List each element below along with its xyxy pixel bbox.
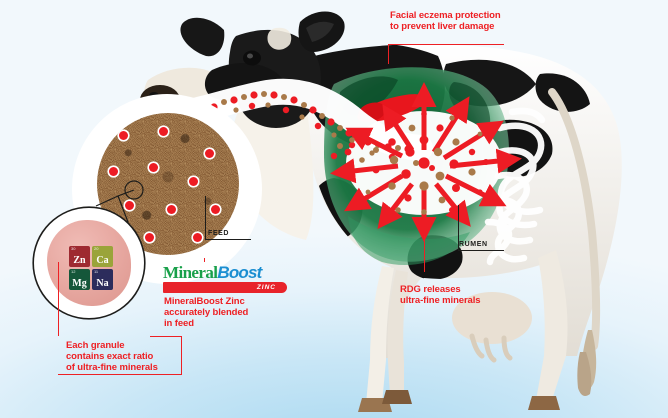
element-box-magnesium: 12 Mg: [69, 269, 90, 290]
liver-callout-dropline: [388, 44, 389, 64]
label-feed: FEED: [208, 230, 229, 237]
logo-word-boost: Boost: [217, 263, 261, 282]
callout-granule: Each granule contains exact ratio of ult…: [66, 340, 188, 374]
element-symbol-zinc: Zn: [73, 255, 85, 267]
element-box-zinc: 30 Zn: [69, 246, 90, 267]
logo-red-bar: ZINC: [163, 282, 281, 293]
element-number-zinc: 30: [71, 247, 75, 251]
element-symbol-sodium: Na: [96, 278, 108, 290]
callout-rumen: RDG releases ultra-fine minerals: [400, 284, 530, 306]
element-box-sodium: 11 Na: [92, 269, 113, 290]
callout-feed-line-2: accurately blended: [164, 307, 294, 318]
callout-liver-line-1: Facial eczema protection: [390, 10, 540, 21]
callout-liver: Facial eczema protection to prevent live…: [390, 10, 540, 32]
granule-callout-leader-top: [150, 336, 182, 337]
callout-feed-line-1: MineralBoost Zinc: [164, 296, 294, 307]
logo-wordmark: MineralBoost: [163, 264, 281, 281]
mineralboost-logo[interactable]: MineralBoost ZINC: [163, 264, 281, 293]
callout-liver-line-2: to prevent liver damage: [390, 21, 540, 32]
callout-granule-line-3: of ultra-fine minerals: [66, 362, 188, 373]
granule-callout-leader-bottom: [58, 374, 182, 375]
feed-label-leader-horizontal: [205, 239, 251, 240]
element-box-calcium: 20 Ca: [92, 246, 113, 267]
logo-word-mineral: Mineral: [163, 263, 217, 282]
logo-bar-cap: [275, 282, 287, 293]
label-rumen: RUMEN: [459, 241, 488, 248]
element-number-sodium: 11: [94, 270, 98, 274]
element-symbol-calcium: Ca: [96, 255, 108, 267]
infographic-canvas: 30 Zn 20 Ca 12 Mg 11 Na: [0, 0, 668, 418]
granule-closeup: 30 Zn 20 Ca 12 Mg 11 Na: [34, 208, 144, 318]
callout-feed-line-3: in feed: [164, 318, 294, 329]
callout-rumen-line-1: RDG releases: [400, 284, 530, 295]
element-symbol-magnesium: Mg: [72, 278, 86, 290]
element-number-magnesium: 12: [71, 270, 75, 274]
rumen-callout-leader-vertical: [424, 236, 425, 272]
granule-callout-leader-vertical: [58, 262, 59, 336]
callout-feed: MineralBoost Zinc accurately blended in …: [164, 296, 294, 330]
callout-granule-line-1: Each granule: [66, 340, 188, 351]
element-number-calcium: 20: [94, 247, 98, 251]
callout-granule-line-2: contains exact ratio: [66, 351, 188, 362]
callout-rumen-line-2: ultra-fine minerals: [400, 295, 530, 306]
rumen-label-leader-horizontal: [458, 250, 504, 251]
feed-callout-leader: [204, 258, 205, 262]
logo-zinc-text: ZINC: [257, 284, 276, 291]
feed-label-leader-vertical: [205, 196, 206, 240]
granule-body: 30 Zn 20 Ca 12 Mg 11 Na: [47, 220, 131, 306]
liver-callout-underline: [388, 44, 504, 45]
